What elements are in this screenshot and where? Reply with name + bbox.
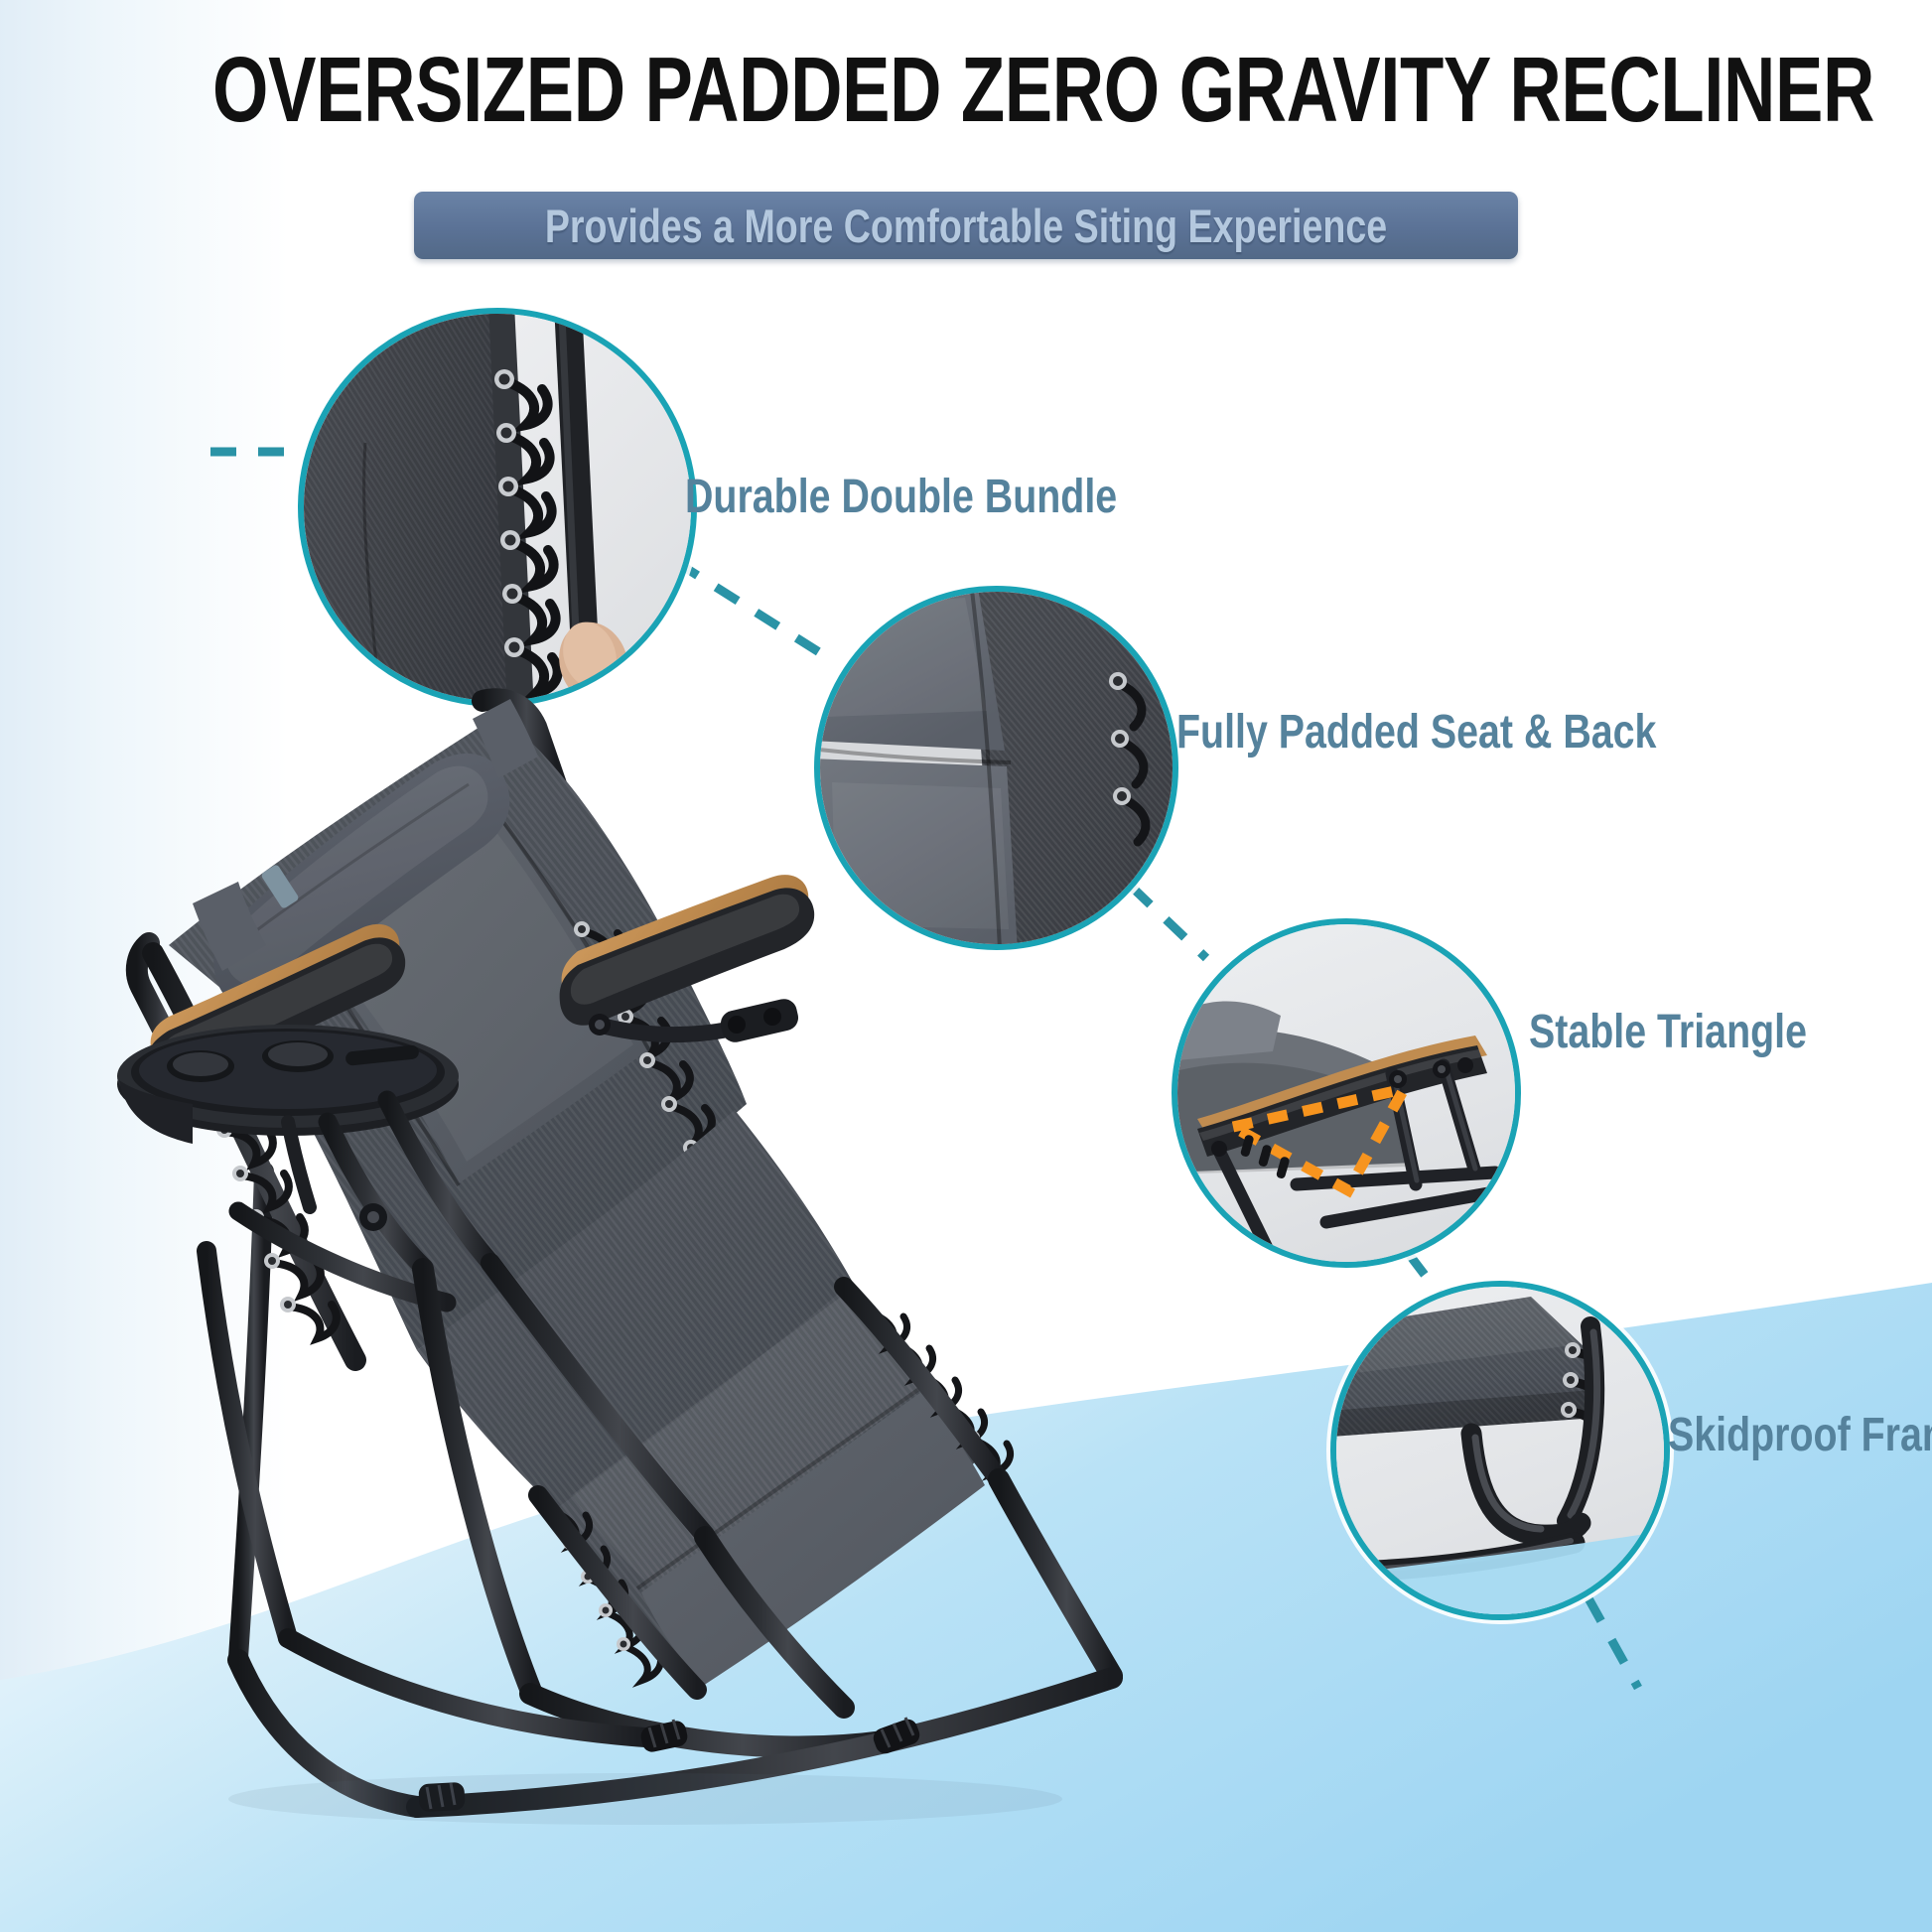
product-image-zero-gravity-recliner bbox=[89, 655, 1380, 1827]
callout-label-durable-double-bundle: Durable Double Bundle bbox=[685, 470, 1117, 524]
callout-label-skidproof-frame: Skidproof Frame bbox=[1668, 1408, 1932, 1462]
infographic-canvas: OVERSIZED PADDED ZERO GRAVITY RECLINER P… bbox=[0, 0, 1932, 1932]
subtitle-banner: Provides a More Comfortable Siting Exper… bbox=[414, 192, 1518, 259]
callout-circle-durable-double-bundle[interactable] bbox=[298, 308, 697, 707]
detail-image-frame-foot bbox=[1336, 1287, 1664, 1614]
subtitle-text: Provides a More Comfortable Siting Exper… bbox=[524, 192, 1408, 259]
detail-image-bungee-lacing bbox=[304, 314, 691, 701]
page-title: OVERSIZED PADDED ZERO GRAVITY RECLINER bbox=[212, 44, 1720, 136]
callout-label-stable-triangle: Stable Triangle bbox=[1529, 1005, 1807, 1059]
callout-circle-skidproof-frame[interactable] bbox=[1330, 1281, 1670, 1620]
